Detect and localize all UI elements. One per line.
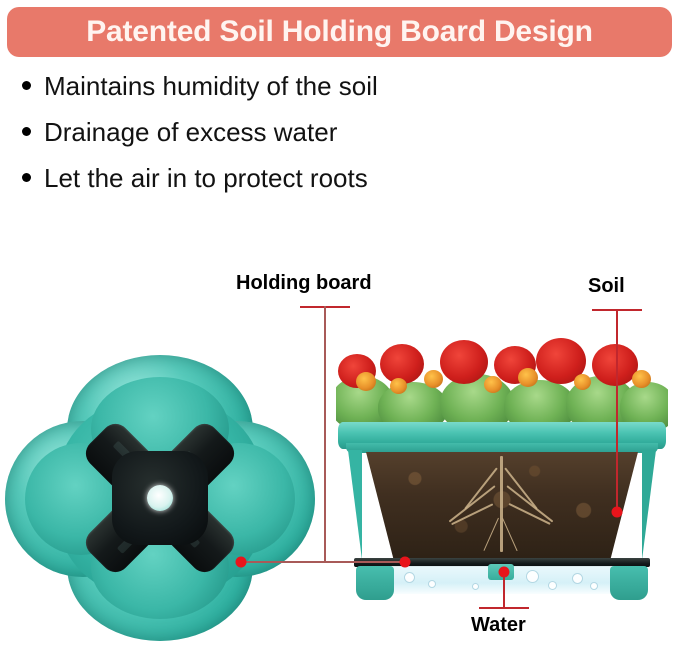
- list-item: Let the air in to protect roots: [22, 164, 622, 210]
- feature-text: Drainage of excess water: [44, 118, 337, 147]
- leader-line: [241, 561, 405, 563]
- callout-label-soil: Soil: [588, 275, 625, 298]
- root-system: [366, 452, 638, 558]
- leader-line: [616, 309, 618, 512]
- planter-foot: [610, 566, 648, 600]
- list-item: Maintains humidity of the soil: [22, 72, 622, 118]
- feature-list: Maintains humidity of the soil Drainage …: [22, 72, 622, 210]
- callout-marker-holding-board-right: [400, 557, 411, 568]
- leader-line: [503, 576, 505, 608]
- callout-marker-soil: [612, 507, 623, 518]
- planter-wall-right: [642, 450, 656, 560]
- planter-top-view: [5, 355, 315, 641]
- callout-marker-holding-board-left: [236, 557, 247, 568]
- holding-board-component: [65, 405, 255, 591]
- infographic-page: Patented Soil Holding Board Design Maint…: [0, 0, 679, 646]
- bullet-dot-icon: [22, 173, 31, 182]
- drainage-hole: [147, 485, 173, 511]
- page-title: Patented Soil Holding Board Design: [86, 17, 593, 47]
- leader-line: [324, 306, 326, 562]
- bullet-dot-icon: [22, 127, 31, 136]
- callout-label-holding-board: Holding board: [236, 272, 372, 295]
- feature-text: Maintains humidity of the soil: [44, 72, 378, 101]
- planter-wall-left: [348, 450, 362, 560]
- list-item: Drainage of excess water: [22, 118, 622, 164]
- planter-foot: [356, 566, 394, 600]
- header-banner: Patented Soil Holding Board Design: [7, 7, 672, 57]
- bullet-dot-icon: [22, 81, 31, 90]
- leader-line: [479, 607, 529, 609]
- feature-text: Let the air in to protect roots: [44, 164, 368, 193]
- callout-label-water: Water: [471, 614, 526, 637]
- flowers-group: [336, 330, 668, 430]
